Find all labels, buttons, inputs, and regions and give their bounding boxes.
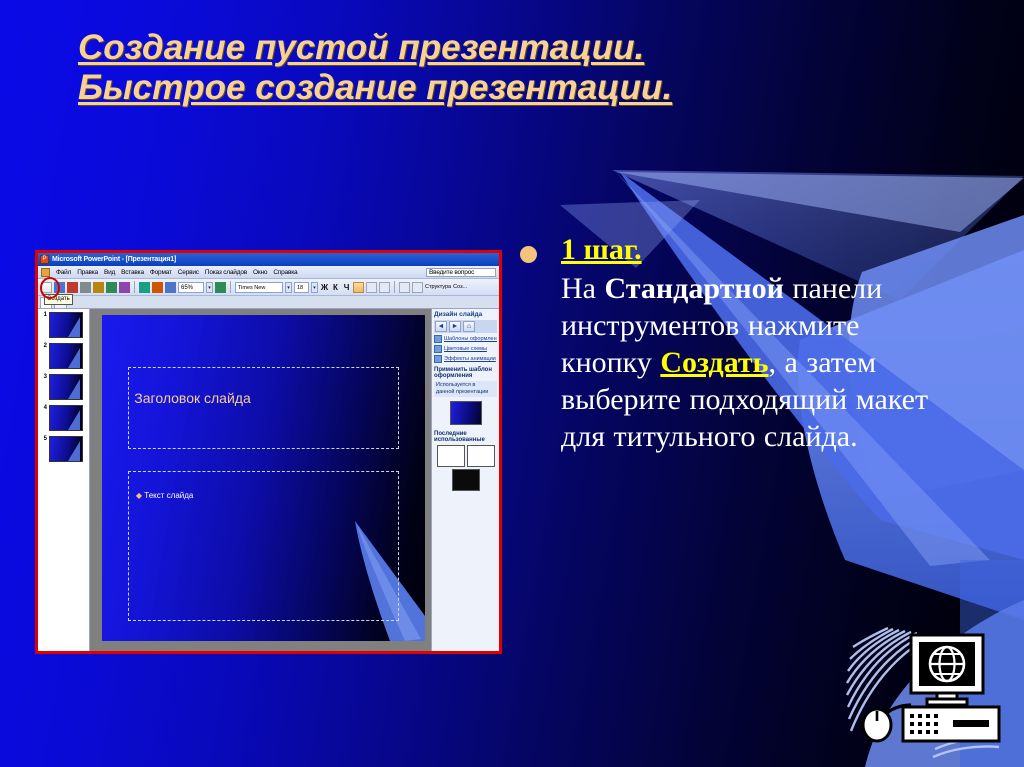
slide-canvas[interactable]: Заголовок слайда ◆ Текст слайда (102, 315, 425, 641)
monitor (911, 635, 983, 705)
templates-icon (434, 335, 442, 343)
menu-item-help[interactable]: Справка (273, 269, 297, 276)
link-color-schemes[interactable]: Цветовые схемы (434, 345, 497, 353)
preview-icon[interactable] (93, 282, 104, 293)
thumbnail-number: 2 (40, 343, 47, 349)
thumbnail-number: 5 (40, 436, 47, 442)
recent-template-row (434, 445, 497, 491)
bullet-dot-icon (520, 246, 537, 263)
used-in-presentation-note: Используется в данной презентации (434, 381, 497, 397)
outline-toolbar-label[interactable]: Структура (425, 284, 451, 290)
slide-title-text: Заголовок слайда (134, 390, 250, 406)
colors-icon (434, 345, 442, 353)
align-left-button[interactable] (353, 282, 364, 293)
thumbnail-preview[interactable] (49, 374, 83, 400)
task-pane-header: Дизайн слайда (434, 311, 497, 318)
para-text-1: На (561, 272, 604, 305)
thumbnail-item: 4 (40, 405, 87, 431)
app-titlebar: P Microsoft PowerPoint - [Презентация1] (38, 253, 499, 266)
powerpoint-screenshot-image: P Microsoft PowerPoint - [Презентация1] … (35, 250, 502, 654)
spellcheck-icon[interactable] (106, 282, 117, 293)
forward-icon[interactable]: ► (449, 321, 461, 332)
slide-thumbnail-panel[interactable]: 1 2 3 4 5 (38, 309, 90, 653)
task-pane-nav: ◄ ► ⌂ (434, 320, 497, 333)
thumbnail-number: 3 (40, 374, 47, 380)
title-placeholder-box[interactable] (128, 367, 399, 449)
task-pane-title: Дизайн слайда (434, 311, 482, 318)
slide-body-text: Текст слайда (144, 491, 193, 500)
menu-item-file[interactable]: Файл (56, 269, 71, 276)
animation-icon (434, 355, 442, 363)
thumbnail-item: 2 (40, 343, 87, 369)
thumbnail-number: 4 (40, 405, 47, 411)
size-dropdown-chevron-icon[interactable]: ▾ (311, 282, 318, 293)
thumbnail-preview[interactable] (49, 405, 83, 431)
ask-question-input[interactable]: Введите вопрос (426, 268, 496, 277)
menu-item-format[interactable]: Формат (150, 269, 172, 276)
insert-table-icon[interactable] (139, 282, 150, 293)
menu-item-view[interactable]: Вид (104, 269, 115, 276)
standard-toolbar: 65% ▾ Times New Roman ▾ 18 ▾ Ж К Ч Струк… (38, 279, 499, 296)
apply-template-heading: Применить шаблон оформления (434, 367, 497, 379)
create-toolbar-label[interactable]: Соз... (453, 284, 467, 290)
template-thumbnail-current[interactable] (450, 401, 482, 425)
step-label: 1 шаг. (561, 232, 642, 268)
presentation-slide: Создание пустой презентации. Быстрое соз… (0, 0, 1024, 767)
numbered-list-button[interactable] (399, 282, 410, 293)
para-highlight-create: Создать (660, 346, 768, 379)
font-dropdown-chevron-icon[interactable]: ▾ (285, 282, 292, 293)
menu-item-service[interactable]: Сервис (178, 269, 199, 276)
new-slide-icon[interactable] (165, 282, 176, 293)
editor-main-area: 1 2 3 4 5 (38, 309, 499, 653)
link-design-templates[interactable]: Шаблоны оформления (434, 335, 497, 343)
window-control-icon[interactable] (41, 268, 50, 277)
template-thumbnail-recent-3[interactable] (452, 469, 480, 491)
menu-item-edit[interactable]: Правка (77, 269, 98, 276)
title-line-1: Создание пустой презентации. (78, 28, 978, 68)
font-name-combobox[interactable]: Times New Roman (235, 282, 283, 293)
thumbnail-item: 1 (40, 312, 87, 338)
undo-icon[interactable] (119, 282, 130, 293)
thumbnail-item: 5 (40, 436, 87, 462)
slide-editing-stage: Заголовок слайда ◆ Текст слайда (90, 309, 431, 653)
back-icon[interactable]: ◄ (435, 321, 447, 332)
slide-bullet-icon: ◆ (136, 491, 142, 500)
font-size-combobox[interactable]: 18 (294, 282, 309, 293)
save-icon[interactable] (67, 282, 78, 293)
zoom-level-combobox[interactable]: 65% (178, 282, 204, 293)
toolbar-separator-2 (230, 281, 231, 293)
title-line-2: Быстрое создание презентации. (78, 68, 978, 108)
help-icon[interactable] (215, 282, 226, 293)
para-bold-standard: Стандартной (604, 272, 783, 305)
home-icon[interactable]: ⌂ (463, 321, 475, 332)
insert-chart-icon[interactable] (152, 282, 163, 293)
thumbnail-preview[interactable] (49, 312, 83, 338)
menu-bar: Файл Правка Вид Вставка Формат Сервис По… (38, 266, 499, 279)
slide-design-task-pane: Дизайн слайда ◄ ► ⌂ Шаблоны оформления Ц… (431, 309, 499, 653)
body-text-block: 1 шаг. На Стандартной панели инструменто… (520, 232, 940, 455)
view-tab-row: Создать x (38, 296, 499, 309)
recently-used-heading: Последние использованные (434, 431, 497, 443)
italic-button[interactable]: К (331, 283, 340, 292)
thumbnail-preview[interactable] (49, 343, 83, 369)
thumbnail-number: 1 (40, 312, 47, 318)
new-button-red-highlight-ellipse (40, 277, 60, 299)
menu-item-window[interactable]: Окно (253, 269, 267, 276)
template-thumbnail-recent-1[interactable] (437, 445, 465, 467)
bold-button[interactable]: Ж (320, 283, 329, 292)
menu-item-slideshow[interactable]: Показ слайдов (205, 269, 247, 276)
thumbnail-preview[interactable] (49, 436, 83, 462)
keyboard (903, 707, 999, 741)
bullet-row: 1 шаг. (520, 232, 940, 268)
bulleted-list-button[interactable] (412, 282, 423, 293)
body-paragraph: На Стандартной панели инструментов нажми… (561, 270, 940, 455)
print-icon[interactable] (80, 282, 91, 293)
template-thumbnail-recent-2[interactable] (467, 445, 495, 467)
status-bar (38, 653, 499, 654)
menu-item-insert[interactable]: Вставка (121, 269, 144, 276)
powerpoint-icon: P (40, 255, 49, 264)
thumbnail-item: 3 (40, 374, 87, 400)
underline-button[interactable]: Ч (342, 283, 351, 292)
align-right-button[interactable] (379, 282, 390, 293)
toolbar-separator (134, 281, 135, 293)
app-title-text: Microsoft PowerPoint - [Презентация1] (52, 256, 176, 263)
computer-globe-clipart (843, 613, 1018, 763)
page-title: Создание пустой презентации. Быстрое соз… (78, 28, 978, 108)
slide-body-line: ◆ Текст слайда (136, 491, 193, 500)
align-center-button[interactable] (366, 282, 377, 293)
link-animation-schemes[interactable]: Эффекты анимации (434, 355, 497, 363)
toolbar-separator-3 (394, 281, 395, 293)
zoom-dropdown-chevron-icon[interactable]: ▾ (206, 282, 213, 293)
